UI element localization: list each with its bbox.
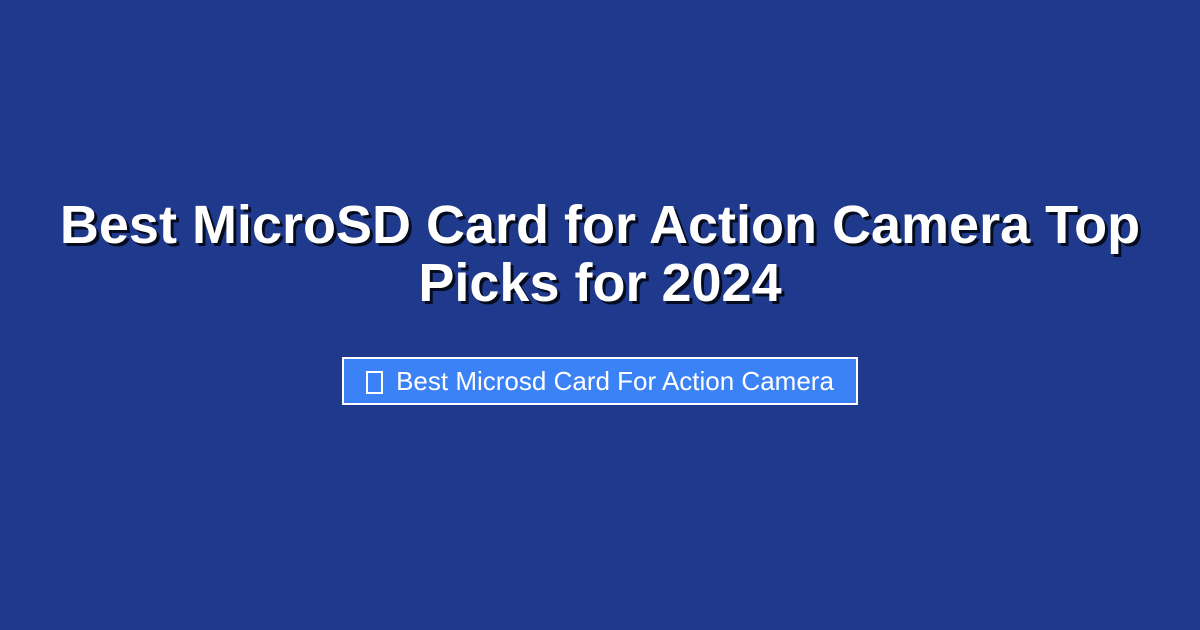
missing-glyph-box-icon [366, 371, 383, 394]
best-microsd-card-badge-button[interactable]: Best Microsd Card For Action Camera [342, 357, 858, 405]
badge-row: Best Microsd Card For Action Camera [0, 357, 1200, 405]
headline-block: Best MicroSD Card for Action Camera Top … [0, 196, 1200, 312]
badge-label: Best Microsd Card For Action Camera [396, 368, 834, 394]
page-title: Best MicroSD Card for Action Camera Top … [0, 196, 1200, 312]
og-image-card: Best MicroSD Card for Action Camera Top … [0, 0, 1200, 630]
